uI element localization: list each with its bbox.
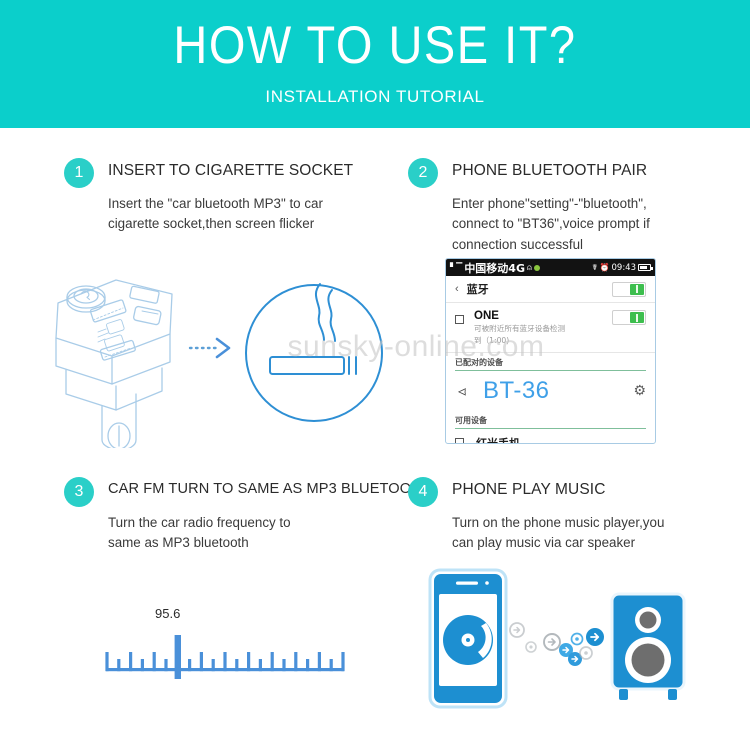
step-4-head: 4 PHONE PLAY MUSIC (408, 481, 664, 507)
step-3-body: Turn the car radio frequency to same as … (108, 513, 431, 554)
fm-dial-scale[interactable] (100, 628, 350, 688)
step-2-body-line-3: connection successful (452, 235, 650, 255)
statusbar-right: ☤ ⏰ 09:43 (592, 263, 651, 273)
car-charger-line-art (56, 280, 172, 448)
signal-bars-icon: ▘▔ (450, 264, 462, 272)
step-3: 3 CAR FM TURN TO SAME AS MP3 BLUETOOTH T… (64, 481, 431, 554)
fm-dial-pointer[interactable] (175, 635, 181, 679)
arrow-circle-icon (586, 628, 604, 646)
chevron-left-icon[interactable]: ‹ (455, 283, 459, 295)
paired-devices-label: 已配对的设备 (446, 353, 655, 370)
paired-device-row[interactable]: ⏿ BT-36 ⚙ (446, 371, 655, 411)
step-4: 4 PHONE PLAY MUSIC Turn on the phone mus… (408, 481, 664, 554)
fm-dial-tick (259, 659, 262, 671)
bluetooth-master-toggle[interactable] (612, 282, 646, 297)
page-title: HOW TO USE IT? (173, 18, 576, 71)
fm-dial-tick (212, 659, 215, 671)
alarm-icon: ⏰ (600, 264, 610, 272)
step-1: 1 INSERT TO CIGARETTE SOCKET Insert the … (64, 162, 353, 235)
device-visibility-toggle[interactable] (612, 310, 646, 325)
fm-dial-tick (247, 652, 250, 671)
step-3-body-line-2: same as MP3 bluetooth (108, 533, 431, 553)
smartphone-icon (430, 570, 506, 707)
step-2-badge: 2 (408, 158, 438, 188)
fm-dial-tick (341, 652, 344, 671)
headphone-icon: ⏿ (455, 383, 469, 399)
available-device-name: 红米手机 (476, 435, 520, 445)
step-1-body-line-2: cigarette socket,then screen flicker (108, 214, 353, 234)
arrow-circle-icon (544, 634, 560, 650)
fm-dial-tick (117, 659, 120, 671)
fm-dial-tick (164, 659, 167, 671)
step-2-body: Enter phone"setting"-"bluetooth", connec… (452, 194, 650, 255)
battery-icon (638, 264, 651, 271)
paired-device-name: BT-36 (483, 377, 633, 405)
step-1-body: Insert the "car bluetooth MP3" to car ci… (108, 194, 353, 235)
checkbox-icon[interactable] (455, 315, 464, 324)
bluetooth-title: 蓝牙 (467, 281, 489, 297)
step-1-body-line-1: Insert the "car bluetooth MP3" to car (108, 194, 353, 214)
bluetooth-icon: ☤ (592, 264, 597, 272)
page-header: HOW TO USE IT? INSTALLATION TUTORIAL (0, 0, 750, 128)
step-1-head: 1 INSERT TO CIGARETTE SOCKET (64, 162, 353, 188)
step-4-badge: 4 (408, 477, 438, 507)
tutorial-page: HOW TO USE IT? INSTALLATION TUTORIAL 1 I… (0, 0, 750, 750)
arrow-circle-icon (510, 623, 524, 637)
arrow-circle-icon (572, 634, 583, 645)
sync-dot-icon (534, 265, 540, 271)
dotted-arrow-right-icon (188, 334, 240, 362)
bluetooth-titlebar: ‹ 蓝牙 (446, 276, 655, 303)
fm-dial-tick (223, 652, 226, 671)
step-2-title: PHONE BLUETOOTH PAIR (452, 162, 647, 180)
fm-dial-tick (271, 652, 274, 671)
fm-dial-tick (318, 652, 321, 671)
available-devices-label: 可用设备 (446, 411, 655, 428)
step-3-title: CAR FM TURN TO SAME AS MP3 BLUETOOTH (108, 481, 431, 497)
fm-frequency-value: 95.6 (155, 606, 180, 621)
fm-dial-tick (188, 659, 191, 671)
fm-dial-tick (330, 659, 333, 671)
step-3-badge: 3 (64, 477, 94, 507)
fm-dial-tick (129, 652, 132, 671)
fm-dial-tick (282, 659, 285, 671)
device-visibility-row[interactable]: ONE 可被附近所有蓝牙设备检测 到（1:00) (446, 303, 655, 353)
fm-dial-tick (153, 652, 156, 671)
loudspeaker-icon (612, 594, 684, 700)
statusbar-left: ▘▔ 中国移动4G ⍝ (450, 260, 540, 276)
step-2-head: 2 PHONE BLUETOOTH PAIR (408, 162, 650, 188)
vinyl-record-icon (443, 615, 493, 665)
page-subtitle: INSTALLATION TUTORIAL (265, 87, 484, 107)
fm-dial-tick (200, 652, 203, 671)
device-visibility-sub-2: 到（1:00) (474, 336, 612, 346)
fm-dial-tick (294, 652, 297, 671)
arrow-circle-icon (580, 647, 592, 659)
step-3-head: 3 CAR FM TURN TO SAME AS MP3 BLUETOOTH (64, 481, 431, 507)
fm-dial-tick (306, 659, 309, 671)
device-name-one: ONE (474, 310, 612, 322)
fm-dial-tick (235, 659, 238, 671)
step-2-body-line-2: connect to "BT36",voice prompt if (452, 214, 650, 234)
device-visibility-sub-1: 可被附近所有蓝牙设备检测 (474, 324, 612, 334)
step-2: 2 PHONE BLUETOOTH PAIR Enter phone"setti… (408, 162, 650, 255)
fm-dial-tick (105, 652, 108, 671)
step-4-title: PHONE PLAY MUSIC (452, 481, 605, 499)
phone-to-speaker-illustration (425, 562, 725, 722)
phone-statusbar: ▘▔ 中国移动4G ⍝ ☤ ⏰ 09:43 (446, 259, 655, 276)
step-2-body-line-1: Enter phone"setting"-"bluetooth", (452, 194, 650, 214)
step-1-title: INSERT TO CIGARETTE SOCKET (108, 162, 353, 180)
step-1-badge: 1 (64, 158, 94, 188)
arrow-circle-icon (526, 642, 536, 652)
fm-dial-tick (141, 659, 144, 671)
phone-bluetooth-screenshot: ▘▔ 中国移动4G ⍝ ☤ ⏰ 09:43 ‹ 蓝牙 ONE 可 (445, 258, 656, 444)
checkbox-icon[interactable] (455, 438, 464, 444)
carrier-label: 中国移动4G (464, 260, 525, 276)
cigarette-socket-icon (246, 284, 382, 421)
device-visibility-text: ONE 可被附近所有蓝牙设备检测 到（1:00) (474, 310, 612, 346)
wifi-icon: ⍝ (527, 264, 532, 272)
step-4-body-line-2: can play music via car speaker (452, 533, 664, 553)
available-device-row[interactable]: 红米手机 (446, 429, 655, 445)
statusbar-time: 09:43 (612, 263, 637, 273)
step-4-body: Turn on the phone music player,you can p… (452, 513, 664, 554)
gear-icon[interactable]: ⚙ (633, 382, 646, 399)
step-3-body-line-1: Turn the car radio frequency to (108, 513, 431, 533)
fm-frequency-dial: 95.6 (100, 606, 350, 684)
step-4-body-line-1: Turn on the phone music player,you (452, 513, 664, 533)
bluetooth-title-group: ‹ 蓝牙 (455, 281, 489, 297)
transfer-arrow-circles (510, 623, 604, 666)
